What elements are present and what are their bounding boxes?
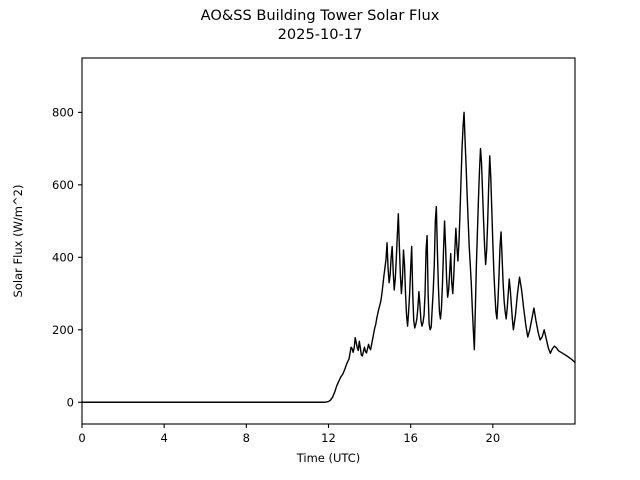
y-tick-label: 400 xyxy=(52,250,74,264)
x-tick-label: 4 xyxy=(161,431,168,445)
x-tick-label: 16 xyxy=(403,431,418,445)
x-axis-ticks: 048121620 xyxy=(78,424,500,445)
solar-flux-line-chart: 048121620 0200400600800 Time (UTC) Solar… xyxy=(0,0,640,480)
x-axis-label: Time (UTC) xyxy=(296,451,361,465)
x-tick-label: 12 xyxy=(321,431,336,445)
y-tick-label: 0 xyxy=(67,395,74,409)
x-tick-label: 8 xyxy=(243,431,250,445)
x-tick-label: 0 xyxy=(78,431,85,445)
y-axis-label: Solar Flux (W/m^2) xyxy=(11,185,25,298)
y-tick-label: 600 xyxy=(52,178,74,192)
y-tick-label: 200 xyxy=(52,323,74,337)
figure-canvas: AO&SS Building Tower Solar Flux 2025-10-… xyxy=(0,0,640,480)
y-axis-ticks: 0200400600800 xyxy=(52,105,82,409)
x-tick-label: 20 xyxy=(486,431,501,445)
y-tick-label: 800 xyxy=(52,105,74,119)
